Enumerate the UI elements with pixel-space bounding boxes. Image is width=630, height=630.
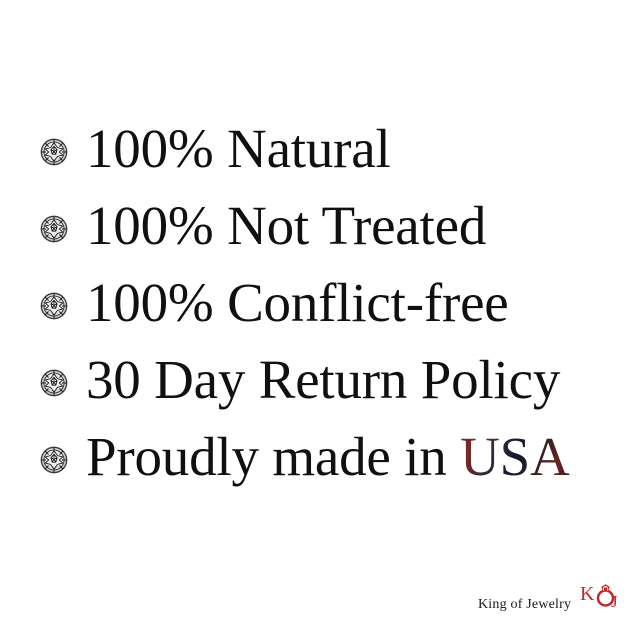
feature-label: 100% Not Treated bbox=[86, 198, 486, 253]
diamond-icon bbox=[40, 369, 68, 397]
svg-text:K: K bbox=[580, 583, 595, 605]
diamond-icon bbox=[40, 215, 68, 243]
feature-label: 100% Conflict-free bbox=[86, 275, 509, 330]
list-item: 30 Day Return Policy bbox=[40, 343, 610, 420]
list-item: 100% Not Treated bbox=[40, 189, 610, 266]
diamond-icon bbox=[40, 292, 68, 320]
koj-monogram-icon: K J bbox=[579, 576, 627, 616]
brand-name: King of Jewelry bbox=[478, 597, 571, 613]
list-item: 100% Conflict-free bbox=[40, 266, 610, 343]
feature-label: Proudly made in USA bbox=[86, 429, 570, 484]
feature-label-prefix: Proudly made in bbox=[86, 426, 460, 487]
feature-label: 30 Day Return Policy bbox=[86, 352, 560, 407]
promo-banner: 100% Natural bbox=[0, 0, 630, 630]
diamond-icon bbox=[40, 446, 68, 474]
feature-label: 100% Natural bbox=[86, 121, 391, 176]
list-item: 100% Natural bbox=[40, 112, 610, 189]
svg-text:J: J bbox=[611, 592, 618, 611]
brand-logo[interactable]: King of Jewelry K J bbox=[478, 576, 627, 616]
feature-list: 100% Natural bbox=[40, 112, 610, 497]
diamond-icon bbox=[40, 138, 68, 166]
list-item: Proudly made in USA bbox=[40, 420, 610, 497]
feature-label-usa: USA bbox=[460, 426, 569, 487]
